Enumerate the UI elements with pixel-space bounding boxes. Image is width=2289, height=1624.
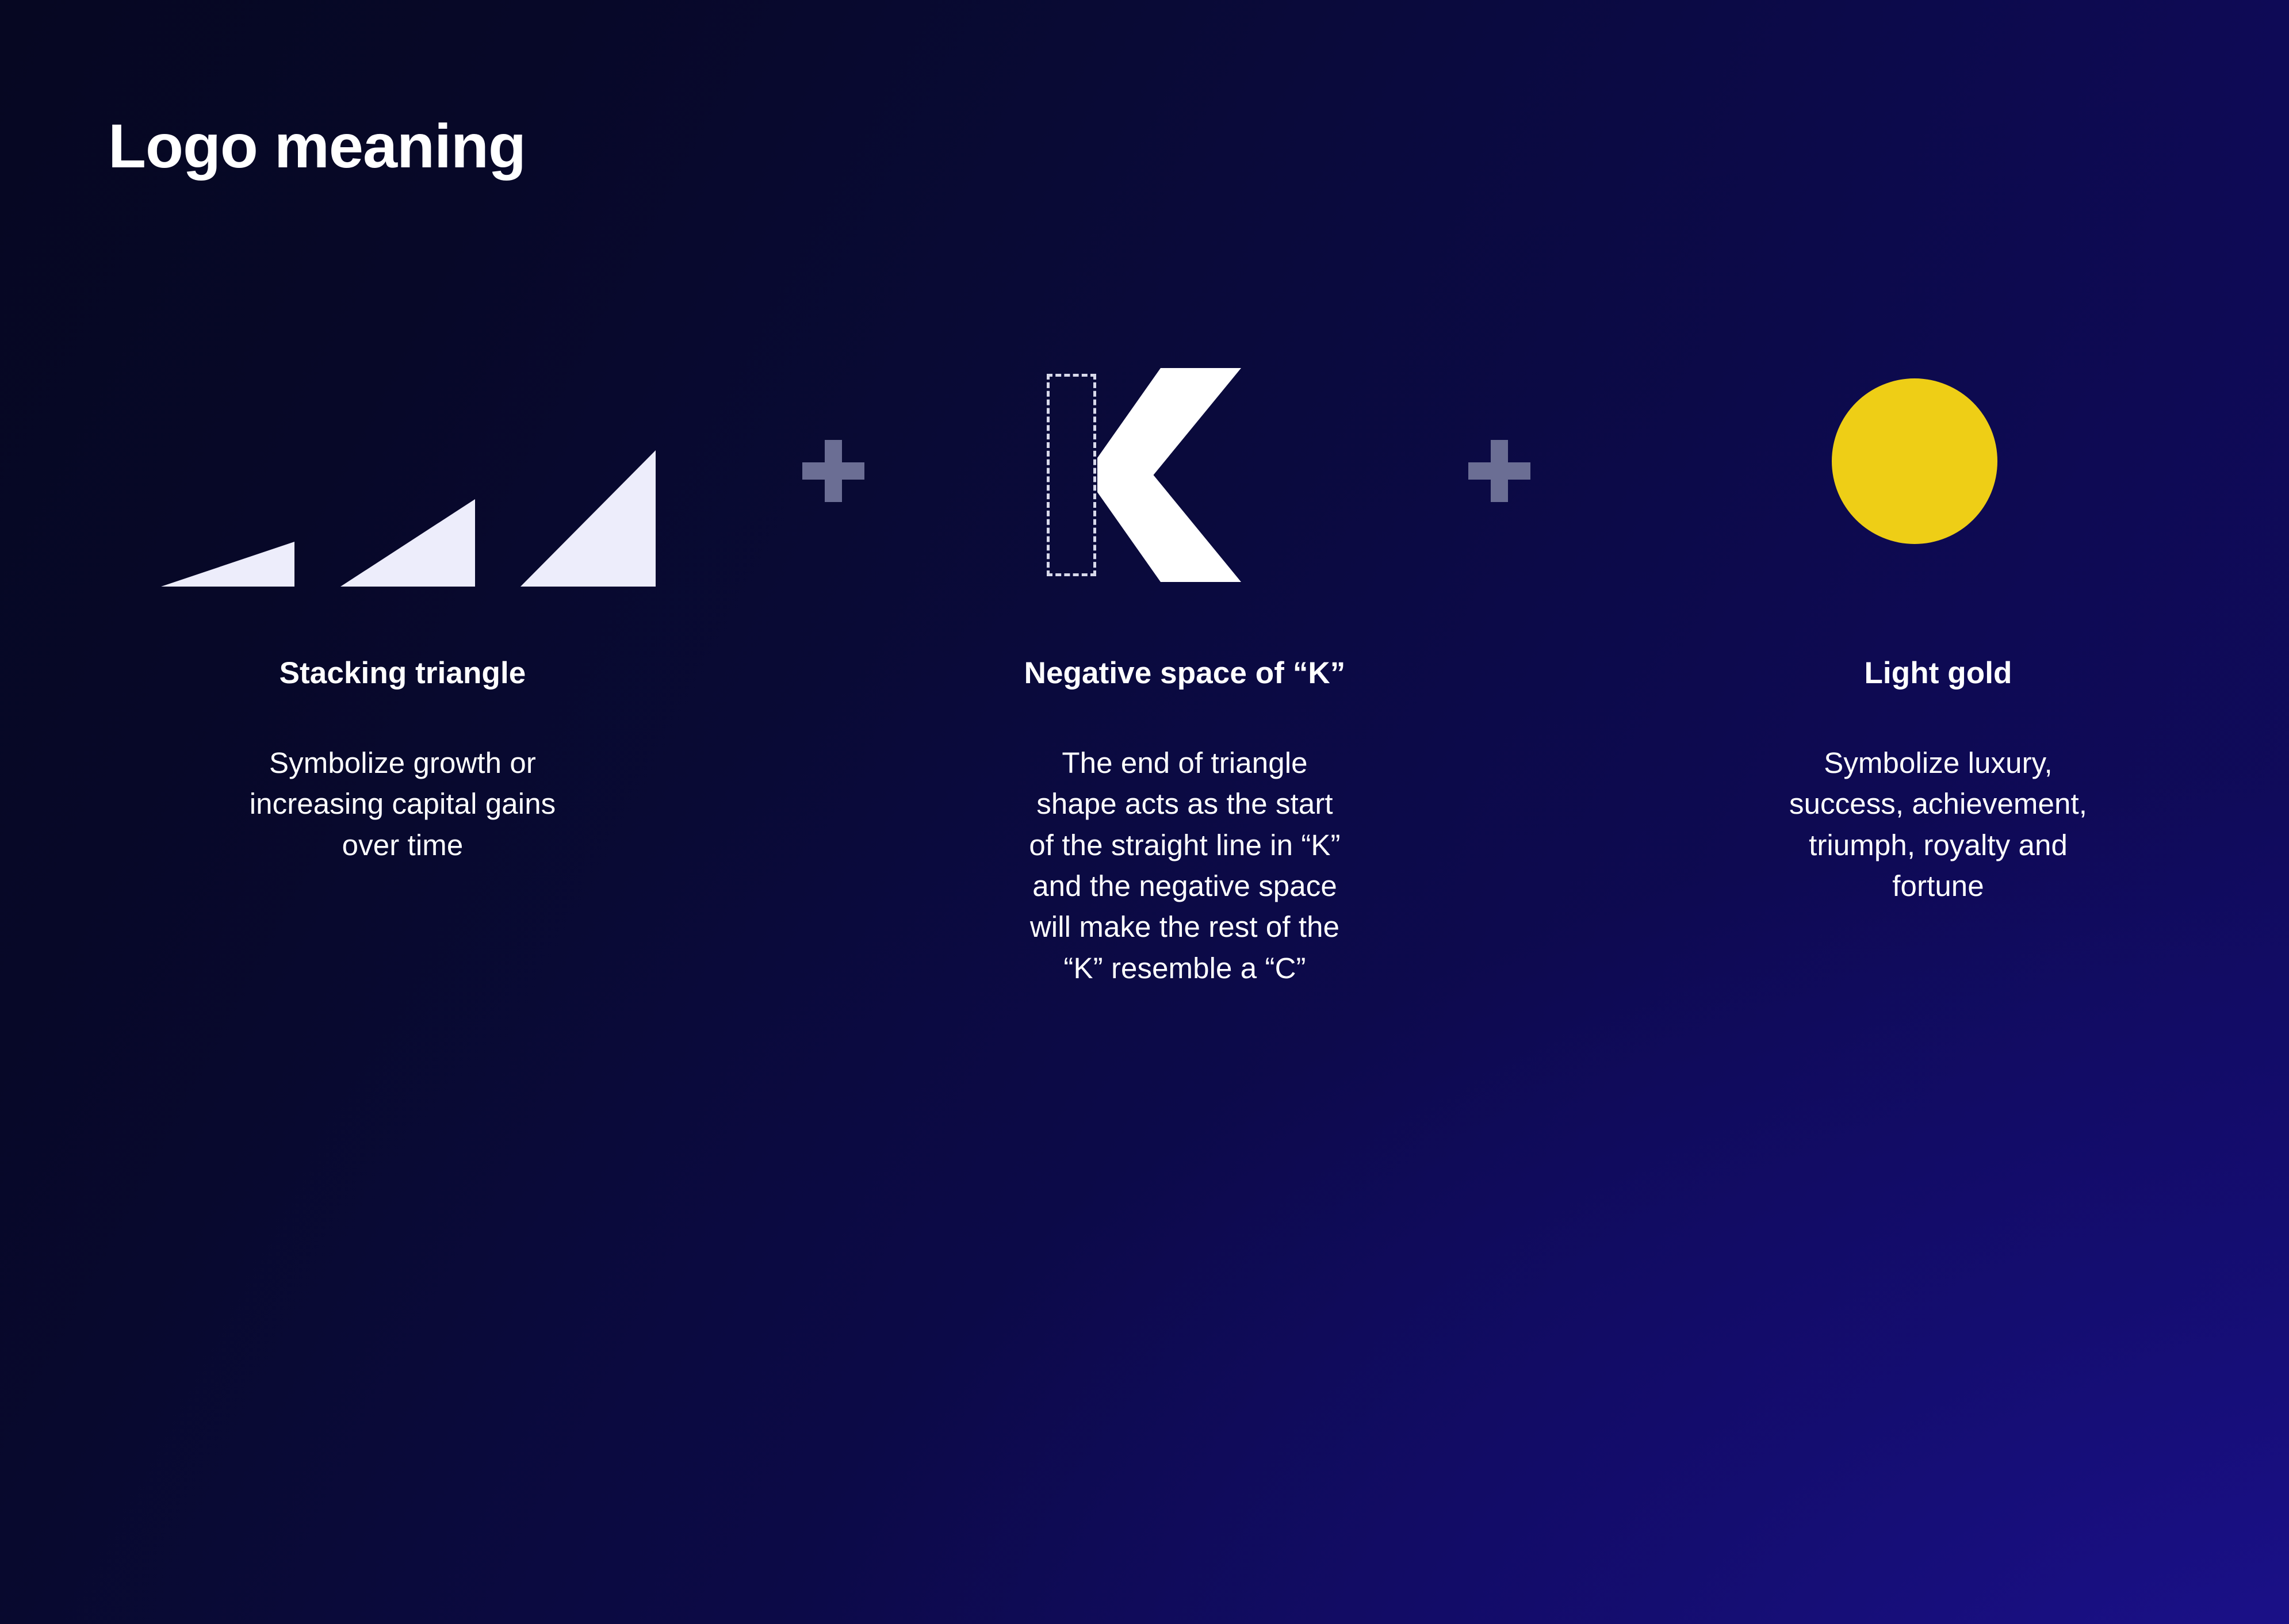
page-title: Logo meaning (108, 112, 526, 181)
column-heading-line: Negative space (1024, 656, 1247, 690)
column-description: The end of triangle shape acts as the st… (851, 742, 1518, 989)
column-artwork (851, 357, 1518, 587)
description-line: of the straight line in “K” (851, 825, 1518, 865)
k-stem-dashed-outline (1047, 374, 1096, 576)
description-line: Symbolize growth or (69, 742, 736, 783)
description-line: fortune (1605, 865, 2272, 906)
column-heading: Light gold (1605, 654, 2272, 693)
k-chevron-shape (1097, 368, 1241, 582)
column-light-gold: Light gold Symbolize luxury, success, ac… (1605, 357, 2272, 906)
description-line: “K” resemble a “C” (851, 948, 1518, 989)
description-line: will make the rest of the (851, 906, 1518, 947)
column-heading: Stacking triangle (69, 654, 736, 693)
triangle-large (520, 450, 656, 587)
description-line: Symbolize luxury, (1605, 742, 2272, 783)
triangle-medium (340, 499, 475, 587)
description-line: triumph, royalty and (1605, 825, 2272, 865)
column-description: Symbolize growth or increasing capital g… (69, 742, 736, 865)
column-artwork (1605, 357, 2272, 587)
letter-k-negative-space-icon (1047, 368, 1248, 582)
description-line: and the negative space (851, 865, 1518, 906)
column-heading: Negative space of “K” (851, 654, 1518, 693)
stacking-triangles-icon (161, 397, 679, 587)
column-negative-space-k: Negative space of “K” The end of triangl… (851, 357, 1518, 989)
description-line: increasing capital gains (69, 783, 736, 824)
description-line: The end of triangle (851, 742, 1518, 783)
column-heading-line: Light gold (1864, 656, 2012, 690)
description-line: over time (69, 825, 736, 865)
gold-circle-icon (1832, 378, 1997, 544)
column-heading-line: of “K” (1255, 656, 1346, 690)
description-line: shape acts as the start (851, 783, 1518, 824)
column-artwork (69, 357, 736, 587)
description-line: success, achievement, (1605, 783, 2272, 824)
column-description: Symbolize luxury, success, achievement, … (1605, 742, 2272, 907)
triangle-small (161, 542, 294, 587)
column-stacking-triangle: Stacking triangle Symbolize growth or in… (69, 357, 736, 865)
logo-meaning-slide: Logo meaning Stacking triangle Symbolize… (0, 0, 2289, 1624)
column-heading-line: Stacking triangle (280, 656, 526, 690)
